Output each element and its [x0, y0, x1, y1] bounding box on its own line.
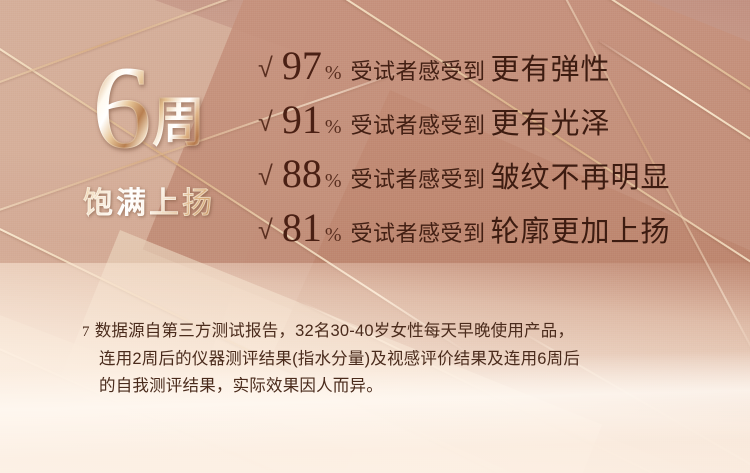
statistic-lead-text: 受试者感受到: [351, 223, 486, 245]
headline-number: 6: [93, 52, 150, 164]
statistic-value: 88: [282, 154, 322, 194]
headline-block: 6 周 饱满上扬: [44, 52, 254, 222]
statistic-emphasis-text: 轮廓更加上扬: [491, 218, 671, 247]
footnote-block: 7数据源自第三方测试报告，32名30-40岁女性每天早晚使用产品， 连用2周后的…: [82, 318, 682, 400]
statistics-list: √ 97 % 受试者感受到 更有弹性 √ 91 % 受试者感受到 更有光泽 √ …: [258, 46, 738, 262]
checkmark-icon: √: [258, 163, 273, 190]
checkmark-icon: √: [258, 217, 273, 244]
statistic-row: √ 97 % 受试者感受到 更有弹性: [258, 46, 738, 100]
headline-unit: 周: [152, 96, 206, 150]
statistic-emphasis-text: 更有光泽: [491, 110, 611, 139]
headline-duration-row: 6 周: [44, 52, 254, 164]
banner-content: 6 周 饱满上扬 √ 97 % 受试者感受到 更有弹性 √ 91 % 受试者感受…: [0, 0, 750, 473]
checkmark-icon: √: [258, 109, 273, 136]
percent-sign-icon: %: [325, 225, 342, 245]
percent-sign-icon: %: [325, 171, 342, 191]
checkmark-icon: √: [258, 55, 273, 82]
statistic-emphasis-text: 皱纹不再明显: [491, 164, 671, 193]
footnote-marker: 7: [82, 324, 90, 340]
statistic-value: 97: [282, 46, 322, 86]
statistic-lead-text: 受试者感受到: [351, 169, 486, 191]
percent-sign-icon: %: [325, 117, 342, 137]
footnote-line-3: 的自我测评结果，实际效果因人而异。: [82, 373, 682, 400]
statistic-emphasis-text: 更有弹性: [491, 56, 611, 85]
statistic-value: 81: [282, 208, 322, 248]
statistic-lead-text: 受试者感受到: [351, 115, 486, 137]
percent-sign-icon: %: [325, 63, 342, 83]
promo-banner: 6 周 饱满上扬 √ 97 % 受试者感受到 更有弹性 √ 91 % 受试者感受…: [0, 0, 750, 473]
statistic-lead-text: 受试者感受到: [351, 61, 486, 83]
statistic-row: √ 81 % 受试者感受到 轮廓更加上扬: [258, 208, 738, 262]
statistic-row: √ 88 % 受试者感受到 皱纹不再明显: [258, 154, 738, 208]
statistic-row: √ 91 % 受试者感受到 更有光泽: [258, 100, 738, 154]
statistic-value: 91: [282, 100, 322, 140]
footnote-line-1: 数据源自第三方测试报告，32名30-40岁女性每天早晚使用产品，: [95, 322, 574, 340]
footnote-line-2: 连用2周后的仪器测评结果(指水分量)及视感评价结果及连用6周后: [82, 346, 682, 373]
headline-subtitle: 饱满上扬: [44, 178, 254, 222]
